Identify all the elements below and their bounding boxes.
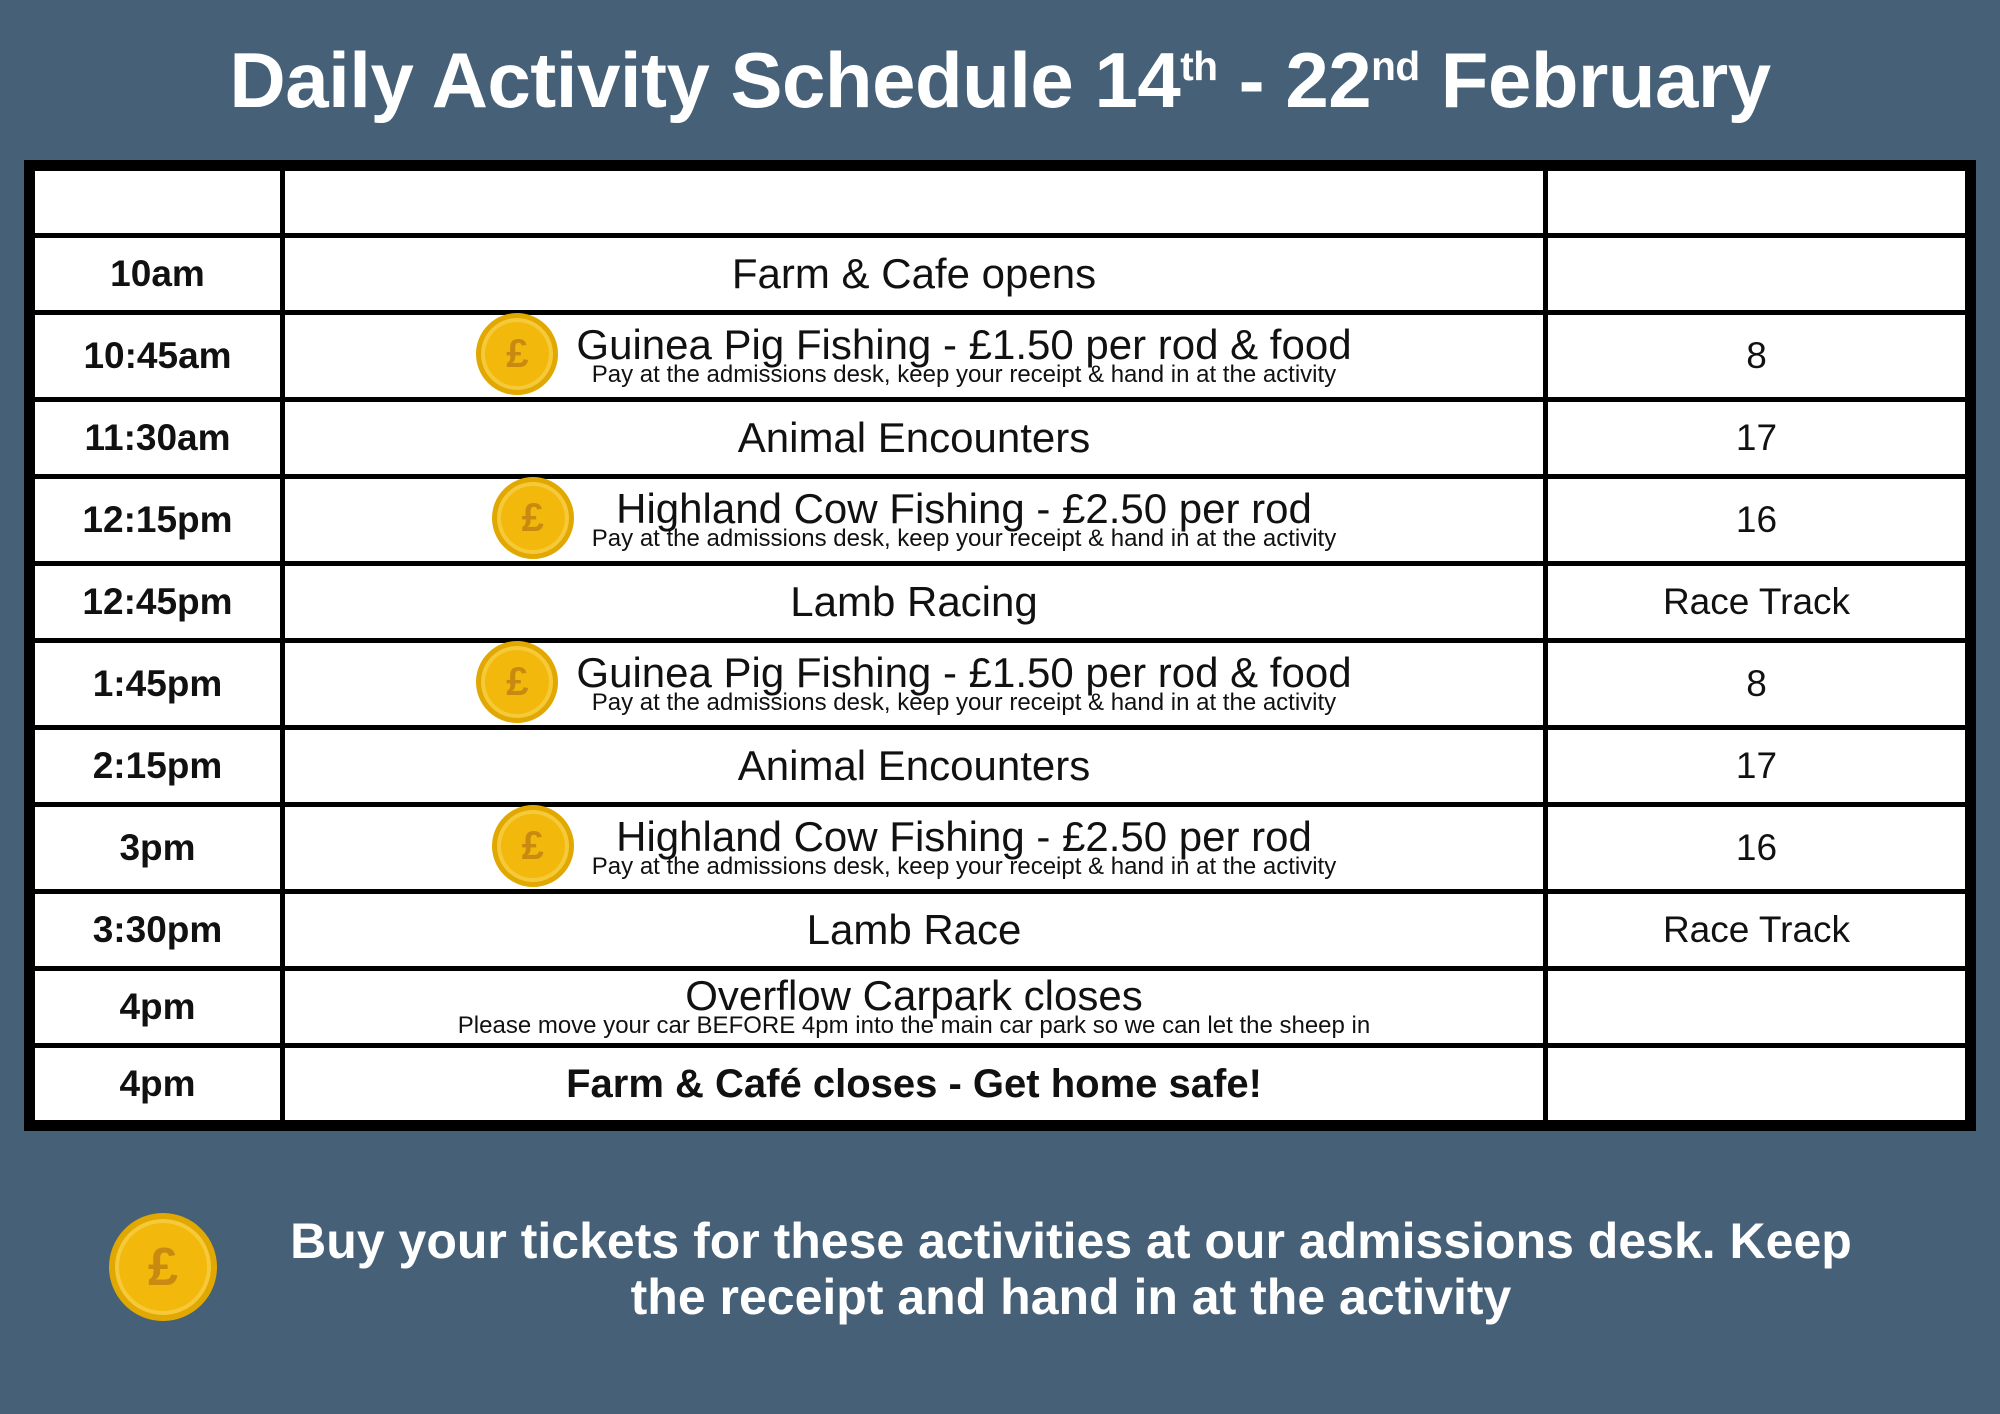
- pound-symbol: £: [522, 826, 544, 866]
- table-row: 1:45pm£Guinea Pig Fishing - £1.50 per ro…: [33, 641, 1968, 728]
- activity-text-group: Farm & Cafe opens: [732, 253, 1096, 296]
- footer-text: Buy your tickets for these activities at…: [251, 1213, 1891, 1325]
- title-ordinal-first: th: [1180, 43, 1217, 89]
- activity-content: Overflow Carpark closesPlease move your …: [285, 975, 1543, 1038]
- cell-location: 17: [1546, 400, 1968, 477]
- table-header: TIME DAILY ACTIVITY SCHEDULE LOCATION: [33, 169, 1968, 236]
- schedule-table: TIME DAILY ACTIVITY SCHEDULE LOCATION 10…: [30, 166, 1970, 1125]
- column-header-time: TIME: [33, 169, 283, 236]
- cell-time: 1:45pm: [33, 641, 283, 728]
- activity-text-group: Guinea Pig Fishing - £1.50 per rod & foo…: [576, 324, 1351, 387]
- column-header-location: LOCATION: [1546, 169, 1968, 236]
- table-body: 10amFarm & Cafe opens10:45am£Guinea Pig …: [33, 236, 1968, 1123]
- cell-time: 3:30pm: [33, 892, 283, 969]
- cell-activity: £Highland Cow Fishing - £2.50 per rodPay…: [283, 477, 1546, 564]
- activity-content: £Highland Cow Fishing - £2.50 per rodPay…: [285, 807, 1543, 889]
- activity-text-group: Animal Encounters: [738, 745, 1091, 788]
- table-row: 10amFarm & Cafe opens: [33, 236, 1968, 313]
- activity-content: Lamb Race: [285, 909, 1543, 952]
- cell-time: 4pm: [33, 969, 283, 1046]
- activity-content: £Highland Cow Fishing - £2.50 per rodPay…: [285, 479, 1543, 561]
- activity-title: Farm & Café closes - Get home safe!: [566, 1064, 1262, 1105]
- cell-location: 17: [1546, 728, 1968, 805]
- cell-time: 3pm: [33, 805, 283, 892]
- activity-content: Animal Encounters: [285, 745, 1543, 788]
- activity-subtitle: Pay at the admissions desk, keep your re…: [592, 527, 1336, 551]
- coin-icon: £: [109, 1213, 217, 1321]
- activity-content: Lamb Racing: [285, 581, 1543, 624]
- activity-text-group: Animal Encounters: [738, 417, 1091, 460]
- table-row: 12:45pmLamb RacingRace Track: [33, 564, 1968, 641]
- coin-icon: £: [476, 313, 558, 395]
- cell-time: 12:45pm: [33, 564, 283, 641]
- activity-title: Lamb Racing: [790, 581, 1037, 624]
- activity-content: Farm & Cafe opens: [285, 253, 1543, 296]
- cell-time: 10am: [33, 236, 283, 313]
- cell-location: 16: [1546, 477, 1968, 564]
- pound-symbol: £: [148, 1240, 178, 1294]
- cell-activity: £Guinea Pig Fishing - £1.50 per rod & fo…: [283, 313, 1546, 400]
- poster: Daily Activity Schedule 14th - 22nd Febr…: [0, 0, 2000, 1414]
- cell-location: [1546, 1046, 1968, 1123]
- pound-symbol: £: [522, 498, 544, 538]
- cell-location: Race Track: [1546, 564, 1968, 641]
- title-suffix: February: [1420, 36, 1771, 124]
- activity-content: £Guinea Pig Fishing - £1.50 per rod & fo…: [285, 315, 1543, 397]
- activity-subtitle: Pay at the admissions desk, keep your re…: [592, 691, 1336, 715]
- activity-title: Lamb Race: [807, 909, 1022, 952]
- cell-time: 4pm: [33, 1046, 283, 1123]
- cell-location: [1546, 236, 1968, 313]
- activity-subtitle: Pay at the admissions desk, keep your re…: [592, 855, 1336, 879]
- activity-title: Farm & Cafe opens: [732, 253, 1096, 296]
- activity-content: Farm & Café closes - Get home safe!: [285, 1064, 1543, 1105]
- footer-note: £ Buy your tickets for these activities …: [0, 1131, 2000, 1414]
- coin-icon: £: [476, 641, 558, 723]
- cell-activity: £Highland Cow Fishing - £2.50 per rodPay…: [283, 805, 1546, 892]
- table-row: 11:30amAnimal Encounters17: [33, 400, 1968, 477]
- activity-text-group: Guinea Pig Fishing - £1.50 per rod & foo…: [576, 652, 1351, 715]
- activity-content: Animal Encounters: [285, 417, 1543, 460]
- table-row: 3pm£Highland Cow Fishing - £2.50 per rod…: [33, 805, 1968, 892]
- activity-text-group: Farm & Café closes - Get home safe!: [566, 1064, 1262, 1105]
- cell-time: 11:30am: [33, 400, 283, 477]
- table-row: 3:30pmLamb RaceRace Track: [33, 892, 1968, 969]
- activity-title: Animal Encounters: [738, 417, 1091, 460]
- cell-activity: Farm & Cafe opens: [283, 236, 1546, 313]
- title-bar: Daily Activity Schedule 14th - 22nd Febr…: [0, 0, 2000, 160]
- title-prefix: Daily Activity Schedule 14: [229, 36, 1180, 124]
- cell-location: [1546, 969, 1968, 1046]
- activity-content: £Guinea Pig Fishing - £1.50 per rod & fo…: [285, 643, 1543, 725]
- title-middle: - 22: [1218, 36, 1372, 124]
- activity-title: Animal Encounters: [738, 745, 1091, 788]
- coin-icon: £: [492, 805, 574, 887]
- title-ordinal-second: nd: [1371, 43, 1420, 89]
- cell-activity: £Guinea Pig Fishing - £1.50 per rod & fo…: [283, 641, 1546, 728]
- cell-activity: Farm & Café closes - Get home safe!: [283, 1046, 1546, 1123]
- table-row: 2:15pmAnimal Encounters17: [33, 728, 1968, 805]
- activity-text-group: Lamb Racing: [790, 581, 1037, 624]
- activity-subtitle: Please move your car BEFORE 4pm into the…: [458, 1014, 1370, 1038]
- cell-time: 2:15pm: [33, 728, 283, 805]
- cell-activity: Lamb Race: [283, 892, 1546, 969]
- cell-time: 10:45am: [33, 313, 283, 400]
- cell-activity: Animal Encounters: [283, 400, 1546, 477]
- table-row: 4pmFarm & Café closes - Get home safe!: [33, 1046, 1968, 1123]
- table-row: 12:15pm£Highland Cow Fishing - £2.50 per…: [33, 477, 1968, 564]
- pound-symbol: £: [506, 334, 528, 374]
- cell-location: Race Track: [1546, 892, 1968, 969]
- column-header-activity: DAILY ACTIVITY SCHEDULE: [283, 169, 1546, 236]
- cell-activity: Overflow Carpark closesPlease move your …: [283, 969, 1546, 1046]
- activity-text-group: Lamb Race: [807, 909, 1022, 952]
- cell-location: 8: [1546, 641, 1968, 728]
- page-title: Daily Activity Schedule 14th - 22nd Febr…: [229, 41, 1770, 119]
- activity-text-group: Overflow Carpark closesPlease move your …: [458, 975, 1370, 1038]
- activity-subtitle: Pay at the admissions desk, keep your re…: [592, 363, 1336, 387]
- cell-activity: Lamb Racing: [283, 564, 1546, 641]
- activity-text-group: Highland Cow Fishing - £2.50 per rodPay …: [592, 488, 1336, 551]
- table-row: 10:45am£Guinea Pig Fishing - £1.50 per r…: [33, 313, 1968, 400]
- cell-location: 16: [1546, 805, 1968, 892]
- schedule-table-container: TIME DAILY ACTIVITY SCHEDULE LOCATION 10…: [24, 160, 1976, 1131]
- table-row: 4pmOverflow Carpark closesPlease move yo…: [33, 969, 1968, 1046]
- coin-icon: £: [492, 477, 574, 559]
- cell-time: 12:15pm: [33, 477, 283, 564]
- pound-symbol: £: [506, 662, 528, 702]
- activity-text-group: Highland Cow Fishing - £2.50 per rodPay …: [592, 816, 1336, 879]
- cell-location: 8: [1546, 313, 1968, 400]
- header-row: TIME DAILY ACTIVITY SCHEDULE LOCATION: [33, 169, 1968, 236]
- cell-activity: Animal Encounters: [283, 728, 1546, 805]
